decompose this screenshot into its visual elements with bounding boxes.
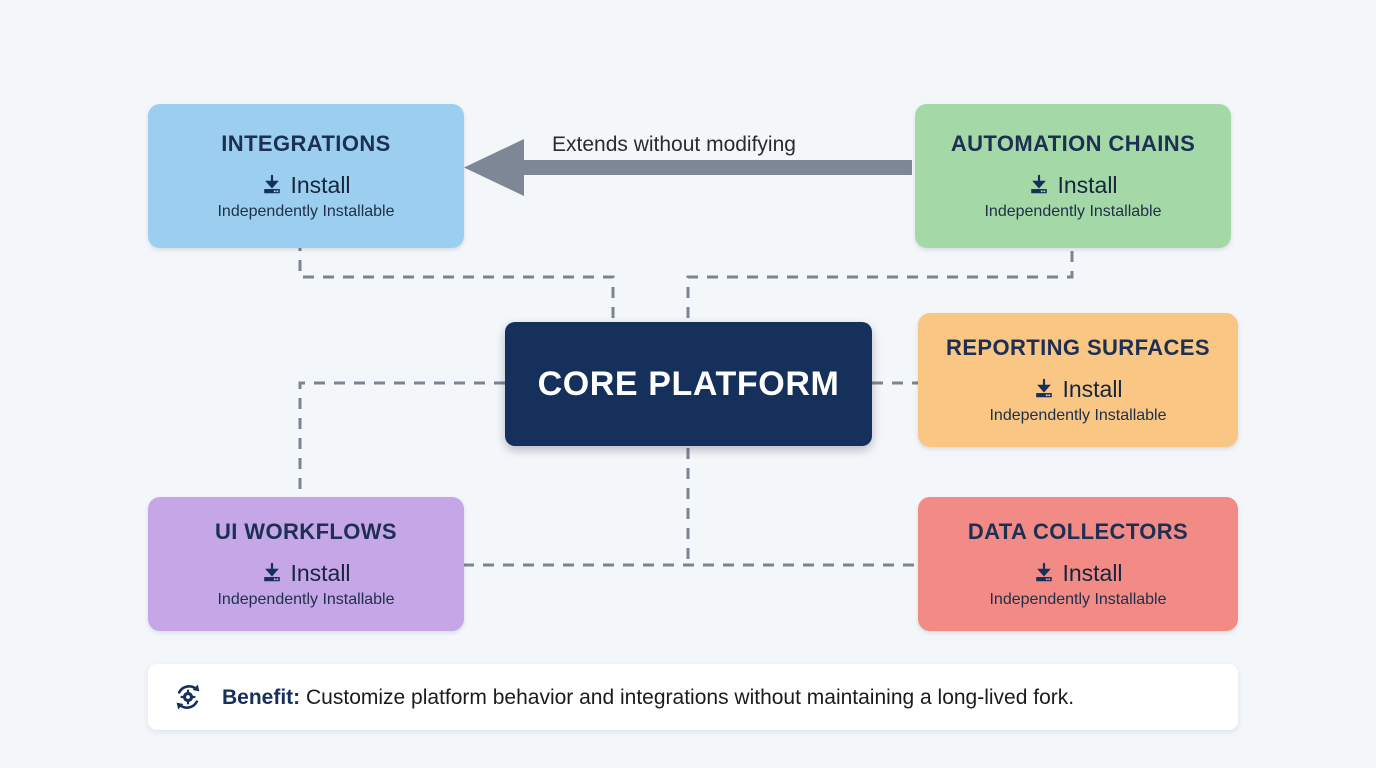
node-action-label: Install [1062, 378, 1122, 401]
node-data-collectors[interactable]: DATA COLLECTORS Install Independently In… [918, 497, 1238, 631]
node-title: AUTOMATION CHAINS [951, 133, 1195, 155]
node-reporting-surfaces[interactable]: REPORTING SURFACES Install Independently… [918, 313, 1238, 447]
node-sub-label: Independently Installable [217, 592, 394, 608]
connector-core-automation [688, 248, 1072, 318]
node-action-label: Install [290, 562, 350, 585]
install-download-icon [261, 562, 283, 584]
node-install-action[interactable]: Install [261, 174, 350, 197]
node-action-label: Install [290, 174, 350, 197]
node-action-label: Install [1057, 174, 1117, 197]
node-install-action[interactable]: Install [261, 562, 350, 585]
node-title: INTEGRATIONS [221, 133, 390, 155]
connector-core-ui-workflows [300, 383, 505, 500]
benefit-description: Customize platform behavior and integrat… [306, 686, 1074, 709]
node-install-action[interactable]: Install [1033, 562, 1122, 585]
node-automation-chains[interactable]: AUTOMATION CHAINS Install Independently … [915, 104, 1231, 248]
node-ui-workflows[interactable]: UI WORKFLOWS Install Independently Insta… [148, 497, 464, 631]
connector-core-integrations [300, 248, 613, 318]
install-download-icon [1028, 174, 1050, 196]
node-action-label: Install [1062, 562, 1122, 585]
node-sub-label: Independently Installable [984, 204, 1161, 220]
extends-arrow-label: Extends without modifying [552, 134, 796, 155]
core-platform-label: CORE PLATFORM [538, 367, 840, 401]
node-install-action[interactable]: Install [1033, 378, 1122, 401]
node-sub-label: Independently Installable [989, 408, 1166, 424]
node-install-action[interactable]: Install [1028, 174, 1117, 197]
node-integrations[interactable]: INTEGRATIONS Install Independently Insta… [148, 104, 464, 248]
gear-refresh-icon [172, 681, 204, 713]
install-download-icon [1033, 378, 1055, 400]
node-sub-label: Independently Installable [217, 204, 394, 220]
benefit-text: Benefit: Customize platform behavior and… [222, 687, 1074, 708]
benefit-lead-label: Benefit: [222, 686, 300, 709]
node-title: REPORTING SURFACES [946, 337, 1210, 359]
install-download-icon [1033, 562, 1055, 584]
diagram-canvas: INTEGRATIONS Install Independently Insta… [0, 0, 1376, 768]
node-title: DATA COLLECTORS [968, 521, 1188, 543]
node-title: UI WORKFLOWS [215, 521, 397, 543]
node-sub-label: Independently Installable [989, 592, 1166, 608]
benefit-bar: Benefit: Customize platform behavior and… [148, 664, 1238, 730]
node-core-platform[interactable]: CORE PLATFORM [505, 322, 872, 446]
install-download-icon [261, 174, 283, 196]
